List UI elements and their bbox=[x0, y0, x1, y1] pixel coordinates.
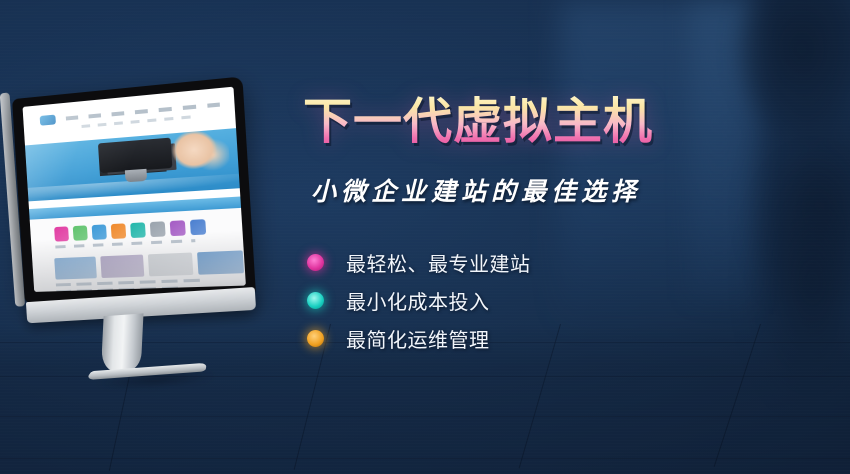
desktop-monitor-illustration bbox=[6, 76, 258, 386]
promo-subtitle: 小微企业建站的最佳选择 bbox=[311, 172, 703, 208]
site-icon-tile-teal bbox=[130, 222, 146, 238]
feature-list-item-label: 最简化运维管理 bbox=[346, 324, 490, 353]
teal-bullet-dot bbox=[307, 292, 324, 309]
site-icon-tile-green bbox=[73, 225, 88, 240]
hosting-promo-banner: 下一代虚拟主机 小微企业建站的最佳选择 最轻松、最专业建站最小化成本投入最简化运… bbox=[0, 0, 850, 474]
feature-list-item: 最轻松、最专业建站 bbox=[307, 244, 703, 282]
website-hero-product-image bbox=[98, 138, 172, 174]
magenta-bullet-dot bbox=[307, 254, 324, 271]
orange-bullet-dot bbox=[307, 330, 324, 347]
feature-list-item-label: 最轻松、最专业建站 bbox=[346, 248, 531, 277]
site-icon-tile-purple bbox=[170, 220, 186, 236]
promo-copy-block: 下一代虚拟主机 小微企业建站的最佳选择 最轻松、最专业建站最小化成本投入最简化运… bbox=[303, 96, 703, 358]
site-content-card-1 bbox=[54, 257, 97, 280]
feature-list-item: 最简化运维管理 bbox=[307, 320, 703, 358]
website-nav-links bbox=[66, 103, 220, 121]
feature-list-item: 最小化成本投入 bbox=[307, 282, 703, 320]
website-hero-person-photo bbox=[168, 129, 231, 187]
site-icon-tile-orange bbox=[111, 223, 126, 239]
site-icon-tile-indigo bbox=[190, 219, 206, 235]
site-content-card-2 bbox=[100, 255, 144, 278]
site-content-card-3 bbox=[148, 253, 194, 277]
promo-title: 下一代虚拟主机 bbox=[303, 96, 703, 150]
website-hero-product-stand bbox=[125, 169, 147, 182]
site-icon-tile-blue bbox=[92, 224, 107, 240]
promo-feature-list: 最轻松、最专业建站最小化成本投入最简化运维管理 bbox=[307, 244, 703, 358]
feature-list-item-label: 最小化成本投入 bbox=[346, 286, 490, 315]
monitor-stand-neck bbox=[101, 313, 144, 372]
site-icon-tile-gray bbox=[150, 221, 166, 237]
monitor-bezel bbox=[12, 76, 256, 302]
website-logo-icon bbox=[40, 115, 56, 126]
site-content-card-4 bbox=[197, 250, 244, 274]
monitor-screen bbox=[23, 87, 246, 292]
site-icon-tile-magenta bbox=[54, 226, 69, 241]
